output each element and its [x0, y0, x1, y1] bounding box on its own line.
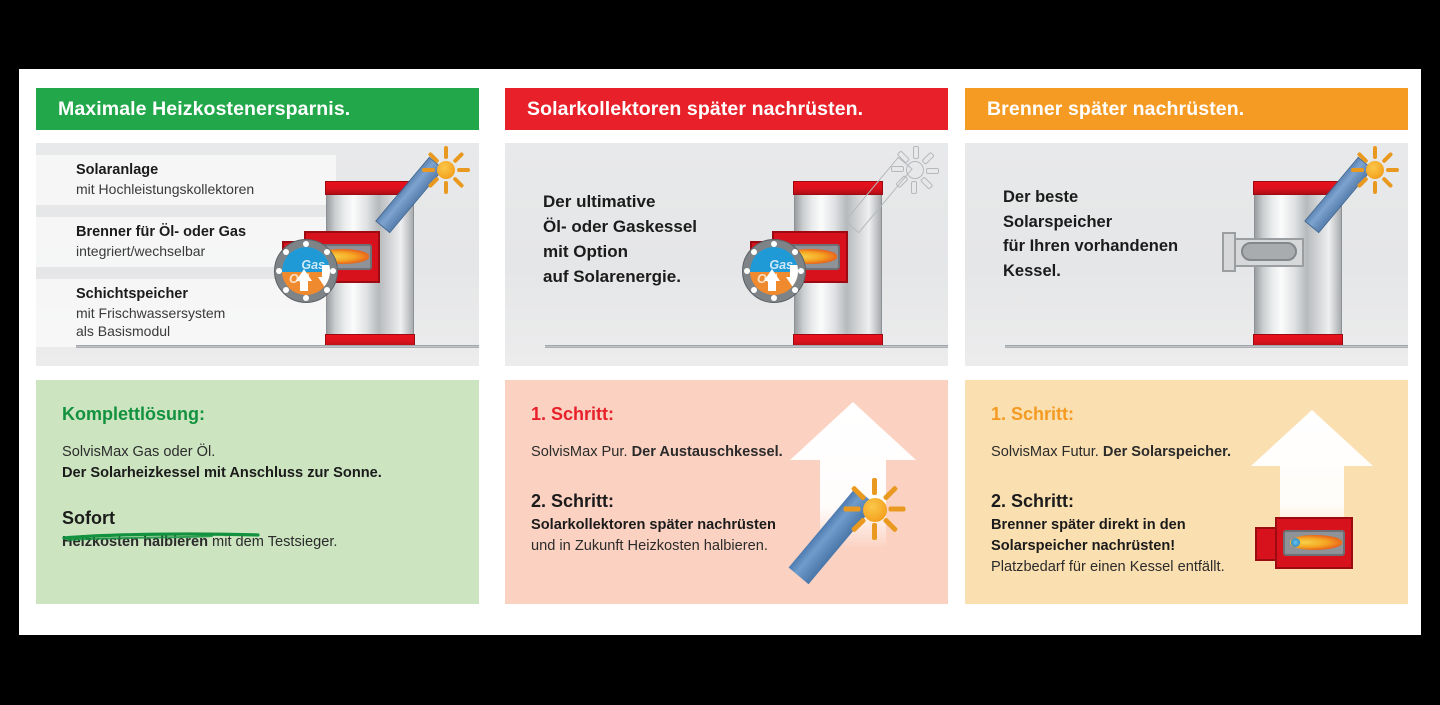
panel-1-summary-box: Komplettlösung: SolvisMax Gas oder Öl. D… [36, 380, 479, 604]
badge-dot [771, 295, 777, 301]
sun-ray [1381, 176, 1393, 188]
panel-brenner: Brenner später nachrüsten. Der beste Sol… [965, 88, 1408, 616]
sun-disc [1366, 161, 1384, 179]
panel-3-header: Brenner später nachrüsten. [965, 88, 1408, 130]
sun-ray [1386, 168, 1399, 172]
hx-rod [1241, 242, 1297, 261]
panel-solarkollektoren: Solarkollektoren später nachrüsten. Der … [505, 88, 948, 616]
ground-line [1005, 345, 1408, 348]
badge-dot [798, 268, 804, 274]
illustration-caption: Der beste Solarspeicher für Ihren vorhan… [1003, 185, 1178, 283]
summary-line: Der Solarheizkessel mit Anschluss zur So… [62, 463, 453, 484]
summary-line: SolvisMax Pur. Der Austauschkessel. [531, 442, 922, 463]
summary-line-emph: Der Solarspeicher. [1103, 444, 1231, 460]
sun-ray [422, 168, 435, 172]
sun-ray [851, 485, 867, 501]
sun-ray [428, 152, 440, 164]
arrow-down-stem [790, 265, 798, 278]
arrow-down-icon [318, 277, 330, 289]
sun-disc [906, 161, 924, 179]
sun-ray [1381, 152, 1393, 164]
ground-line [76, 345, 479, 348]
sun-ray [452, 176, 464, 188]
heat-exchanger-port-icon [1222, 228, 1314, 276]
summary-line: Platzbedarf für einen Kessel entfällt. [991, 557, 1382, 578]
summary-line-rest: SolvisMax Futur. [991, 444, 1103, 460]
panel-2-illustration: Der ultimative Öl- oder Gaskessel mit Op… [505, 143, 948, 366]
badge-face: Gas Oel [282, 247, 330, 295]
sun-disc [437, 161, 455, 179]
sun-ray [897, 150, 910, 163]
feature-item: Solaranlage mit Hochleistungskollektoren [36, 155, 336, 205]
feature-title: Solaranlage [76, 161, 336, 180]
summary-line: SolvisMax Futur. Der Solarspeicher. [991, 442, 1382, 463]
sun-ray [889, 507, 906, 512]
sun-ray [872, 478, 877, 495]
sun-ray [913, 146, 919, 159]
sun-ray [844, 507, 861, 512]
sun-ray [920, 176, 933, 189]
poster-canvas: Maximale Heizkostenersparnis. Solaranlag… [0, 0, 1440, 705]
sun-ray [1373, 181, 1377, 194]
summary-line: Solarkollektoren später nachrüsten [531, 515, 922, 536]
sun-ray [921, 152, 934, 165]
sun-ray [457, 168, 470, 172]
feature-sub: mit Frischwassersystem als Basismodul [76, 304, 336, 340]
summary-line-rest: mit dem Testsieger. [208, 534, 338, 550]
sun-ray [911, 181, 917, 194]
sun-ray [452, 152, 464, 164]
sun-ray [428, 176, 440, 188]
ground-line [545, 345, 948, 348]
summary-line: und in Zukunft Heizkosten halbieren. [531, 536, 922, 557]
summary-line-emph: Der Austauschkessel. [632, 444, 783, 460]
summary-line-emph: Heizkosten halbieren [62, 534, 208, 550]
summary-line: Solarspeicher nachrüsten! [991, 536, 1382, 557]
sun-ray [1357, 176, 1369, 188]
summary-line-rest: SolvisMax Pur. [531, 444, 632, 460]
panel-komplettloesung: Maximale Heizkostenersparnis. Solaranlag… [36, 88, 479, 616]
panel-2-header: Solarkollektoren später nachrüsten. [505, 88, 948, 130]
panel-1-header: Maximale Heizkostenersparnis. [36, 88, 479, 130]
sun-ray [1351, 168, 1364, 172]
step-label: Sofort [62, 506, 453, 530]
white-sheet: Maximale Heizkostenersparnis. Solaranlag… [19, 69, 1421, 635]
sun-icon [420, 144, 472, 196]
sun-ray [895, 175, 908, 188]
badge-dot [303, 295, 309, 301]
arrow-down-stem [322, 265, 330, 278]
arrow-down-icon [786, 277, 798, 289]
sun-ray [1357, 152, 1369, 164]
sun-ray [444, 146, 448, 159]
arrow-up-stem [768, 279, 776, 291]
sun-icon [1349, 144, 1401, 196]
step-label: Komplettlösung: [62, 402, 453, 426]
sun-ray [891, 166, 904, 172]
sun-ray [926, 168, 939, 174]
summary-line: Brenner später direkt in den [991, 515, 1382, 536]
badge-face: Gas Oel [750, 247, 798, 295]
panel-3-illustration: Der beste Solarspeicher für Ihren vorhan… [965, 143, 1408, 366]
sun-outline-icon [889, 144, 941, 196]
feature-sub: mit Hochleistungskollektoren [76, 180, 336, 198]
panel-3-summary-box: 1. Schritt: SolvisMax Futur. Der Solarsp… [965, 380, 1408, 604]
arrow-up-stem [300, 279, 308, 291]
badge-dot [771, 241, 777, 247]
sun-ray [444, 181, 448, 194]
gas-oel-badge-icon: Gas Oel [274, 239, 338, 303]
badge-dot [330, 268, 336, 274]
panel-2-summary-box: 1. Schritt: SolvisMax Pur. Der Austausch… [505, 380, 948, 604]
gas-oel-badge-icon: Gas Oel [742, 239, 806, 303]
sun-ray [1373, 146, 1377, 159]
summary-line: SolvisMax Gas oder Öl. [62, 442, 453, 463]
badge-dot [303, 241, 309, 247]
sun-ray [883, 485, 899, 501]
panel-1-illustration: Solaranlage mit Hochleistungskollektoren… [36, 143, 479, 366]
illustration-caption: Der ultimative Öl- oder Gaskessel mit Op… [543, 189, 697, 289]
summary-line: Heizkosten halbieren mit dem Testsieger. [62, 532, 453, 553]
